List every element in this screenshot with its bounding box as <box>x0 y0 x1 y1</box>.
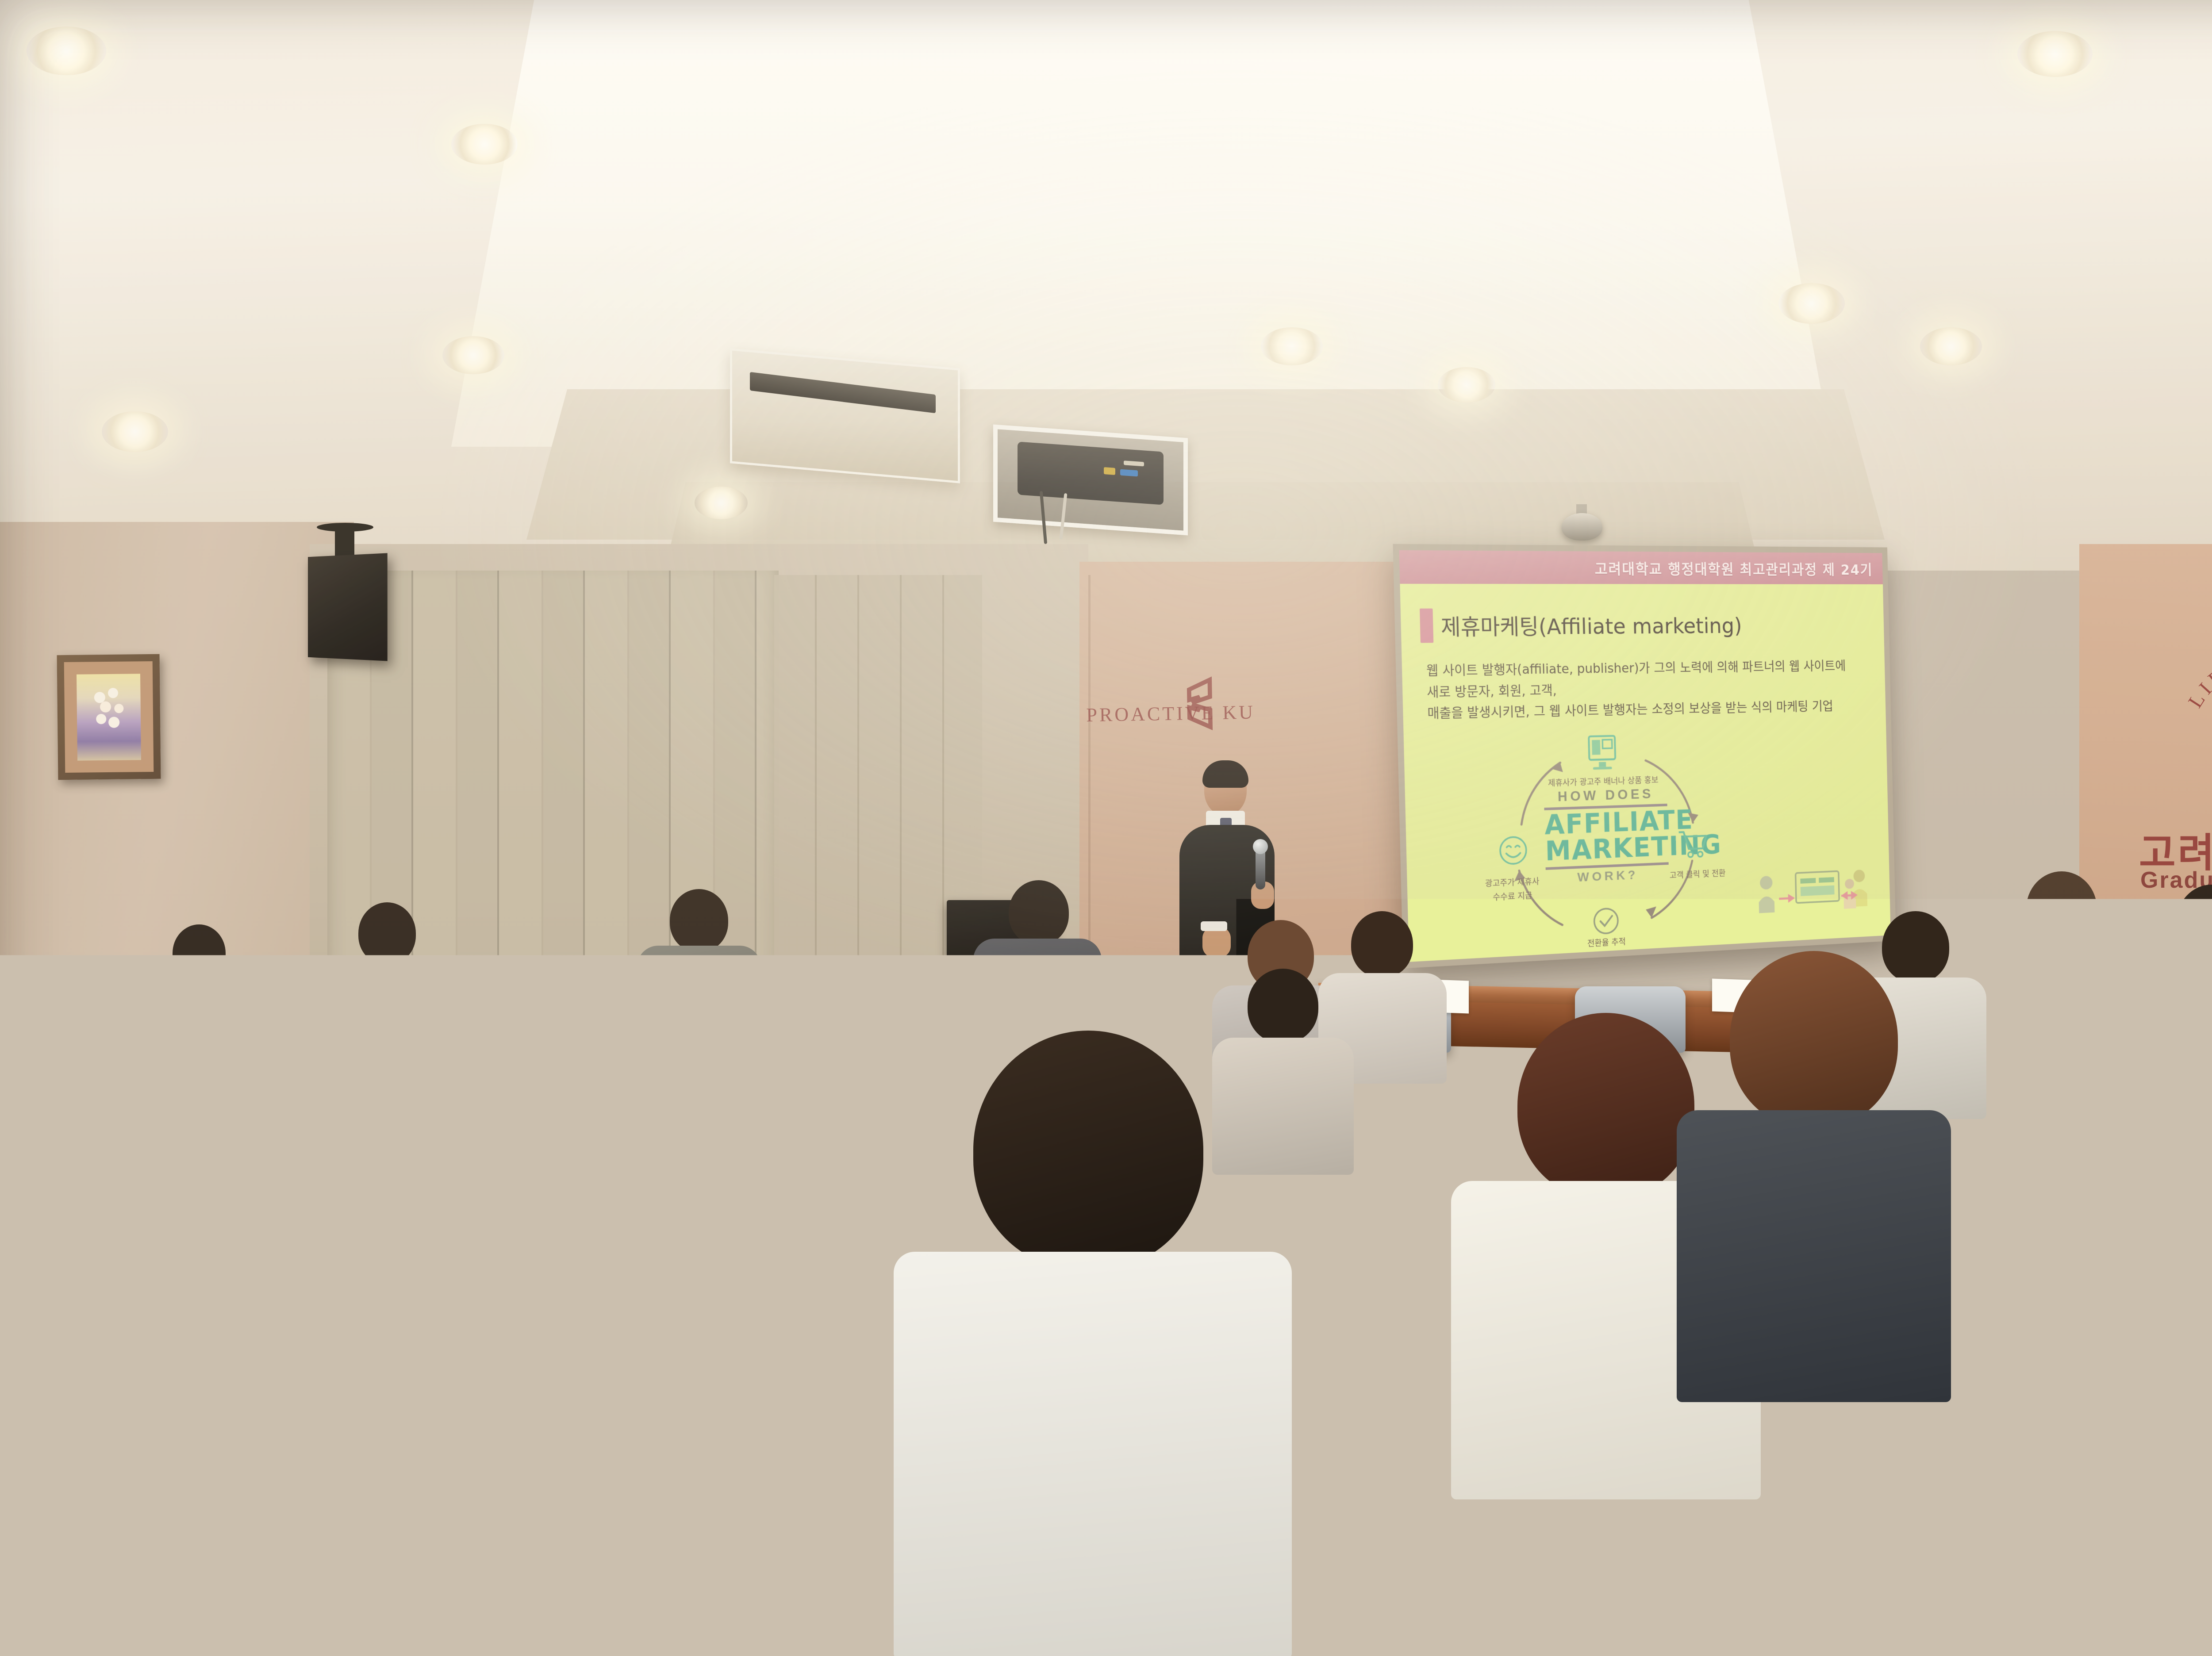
recessed-downlight <box>695 487 748 519</box>
projector-port <box>1124 460 1144 466</box>
projector-port <box>1104 467 1115 475</box>
attendee-body <box>1677 1110 1951 1402</box>
name-card <box>655 1248 750 1308</box>
cycle-how-does: HOW DOES <box>1544 786 1667 805</box>
speaker-mount <box>335 529 354 558</box>
attendee-body <box>637 946 761 1056</box>
recessed-downlight <box>442 336 504 374</box>
slide-title-accent <box>1420 609 1433 643</box>
recessed-downlight <box>1438 367 1495 402</box>
monitor-icon <box>1583 732 1621 772</box>
bottle-cap <box>2116 1101 2131 1109</box>
attendee-head <box>1351 911 1413 977</box>
bottle-cap <box>601 990 616 998</box>
painting-mat <box>64 661 154 773</box>
slide-body: 웹 사이트 발행자(affiliate, publisher)가 그의 노력에 … <box>1426 656 1854 724</box>
attendee-body <box>336 1221 637 1513</box>
attendee-head <box>2177 885 2212 959</box>
attendee-head <box>173 924 226 982</box>
attendee-body <box>894 1252 1292 1656</box>
attendee-foreground <box>1677 951 1951 1402</box>
korea-university-crest: LIBERTAS JUSTITIA VERITAS KOREA UNIVERSI… <box>2141 575 2212 823</box>
attendee <box>637 889 761 1048</box>
slide-body-line-1: 웹 사이트 발행자(affiliate, publisher)가 그의 노력에 … <box>1426 656 1853 703</box>
shopping-cart-icon <box>1675 825 1711 863</box>
attendee-head <box>358 902 416 964</box>
recessed-downlight <box>1920 327 1982 365</box>
painting-artwork <box>77 674 141 760</box>
attendee-head <box>1009 880 1069 945</box>
attendee-head <box>1517 1013 1694 1199</box>
microphone-head <box>1253 839 1268 854</box>
attendee-body <box>2031 1322 2212 1656</box>
attendee-body <box>2141 953 2212 1099</box>
crest-motto-arc: LIBERTAS JUSTITIA VERITAS <box>2141 575 2212 823</box>
slide-banner-text: 고려대학교 행정대학원 최고관리과정 제 24기 <box>1594 557 1873 579</box>
attendee-body <box>1991 940 2137 1091</box>
folding-partition <box>774 575 982 1070</box>
attendee-head <box>690 1522 876 1654</box>
ku-logo-icon <box>1184 675 1234 732</box>
attendee-head <box>670 889 728 952</box>
chair[interactable] <box>743 1154 889 1247</box>
recessed-downlight <box>2017 31 2093 77</box>
slide-title: 제휴마케팅(Affiliate marketing) <box>1440 609 1742 642</box>
wall-speaker <box>308 553 388 661</box>
recessed-downlight <box>27 27 106 75</box>
slide-banner: 고려대학교 행정대학원 최고관리과정 제 24기 <box>1399 550 1883 584</box>
recessed-downlight <box>102 411 168 452</box>
attendee-head <box>394 1070 553 1238</box>
attendee-foreground <box>2031 1123 2212 1656</box>
check-circle-icon <box>1589 903 1623 939</box>
lecture-hall-photo: PROACTIVE KU LIBERTAS JUSTITIA VERITAS K… <box>0 0 2212 1656</box>
slide-surface: 고려대학교 행정대학원 최고관리과정 제 24기 제휴마케팅(Affiliate… <box>1399 550 1891 962</box>
ceiling-dome-camera <box>1562 513 1602 540</box>
attendee <box>1991 871 2137 1084</box>
attendee <box>2141 885 2212 1092</box>
presenter-hair <box>1202 760 1248 788</box>
recessed-downlight <box>451 124 518 165</box>
proactive-ku-wall-mark: PROACTIVE KU <box>1086 662 1246 740</box>
svg-text:LIBERTAS JUSTITIA: LIBERTAS JUSTITIA <box>2141 575 2212 724</box>
water-bottle[interactable] <box>599 995 617 1048</box>
attendee-head <box>2026 871 2097 947</box>
attendee-head <box>1730 951 1898 1128</box>
name-card <box>655 1084 732 1128</box>
ceiling-air-diffuser <box>730 348 960 483</box>
ceiling-projector <box>1018 441 1164 505</box>
attendee-foreground <box>0 1283 283 1656</box>
recessed-downlight <box>1778 283 1845 324</box>
attendee-foreground <box>894 1031 1292 1656</box>
recessed-downlight <box>1261 327 1323 365</box>
cycle-center-label: HOW DOES AFFILIATE MARKETING WORK? <box>1544 786 1669 886</box>
projector-port <box>1120 469 1138 477</box>
air-vent-slot <box>750 372 936 413</box>
ceiling-soffit <box>451 0 1832 447</box>
attendee-head <box>973 1031 1203 1269</box>
attendee-foreground <box>336 1070 637 1513</box>
attendee-head <box>2115 1123 2212 1340</box>
attendee-foreground <box>611 1522 947 1656</box>
attendee-head <box>22 1283 212 1482</box>
attendee-head <box>276 986 350 1062</box>
smiley-icon <box>1495 832 1531 869</box>
framed-painting <box>57 654 161 780</box>
affiliate-marketing-cycle-diagram: HOW DOES AFFILIATE MARKETING WORK? 제휴사가 … <box>1468 733 1736 958</box>
projection-screen: 고려대학교 행정대학원 최고관리과정 제 24기 제휴마케팅(Affiliate… <box>1393 544 1896 969</box>
attendee-body <box>0 1464 283 1656</box>
slide-title-row: 제휴마케팅(Affiliate marketing) <box>1420 608 1742 643</box>
cycle-marketing: MARKETING <box>1545 834 1668 865</box>
